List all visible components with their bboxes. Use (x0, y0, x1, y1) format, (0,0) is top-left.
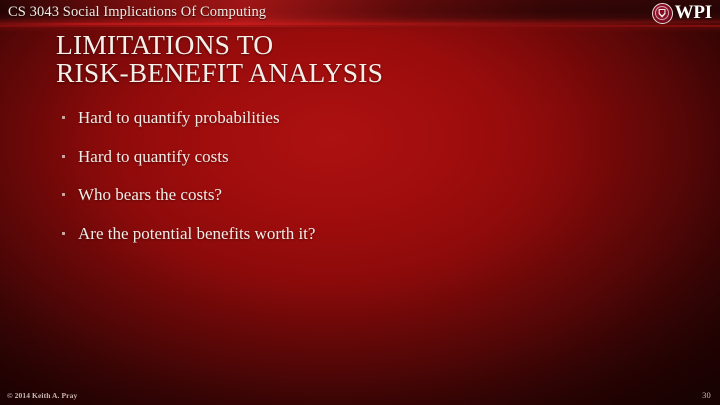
list-item: Are the potential benefits worth it? (58, 224, 658, 244)
bullet-dot-icon (62, 193, 65, 196)
slide-title-line-1: LIMITATIONS TO (56, 31, 676, 59)
header-divider-rule (0, 23, 720, 25)
list-item-label: Hard to quantify costs (78, 147, 229, 166)
list-item-label: Hard to quantify probabilities (78, 108, 280, 127)
course-title: CS 3043 Social Implications Of Computing (8, 1, 266, 23)
wpi-shield-icon (659, 9, 666, 18)
list-item-label: Who bears the costs? (78, 185, 222, 204)
wpi-seal-icon (652, 3, 673, 24)
list-item: Who bears the costs? (58, 185, 658, 205)
list-item-label: Are the potential benefits worth it? (78, 224, 315, 243)
slide-canvas: CS 3043 Social Implications Of Computing… (0, 0, 720, 405)
bullet-dot-icon (62, 116, 65, 119)
slide-page-number: 30 (702, 390, 711, 400)
list-item: Hard to quantify costs (58, 147, 658, 167)
bullet-dot-icon (62, 232, 65, 235)
list-item: Hard to quantify probabilities (58, 108, 658, 128)
bullet-dot-icon (62, 155, 65, 158)
bullet-list: Hard to quantify probabilities Hard to q… (58, 108, 658, 262)
footer-copyright: © 2014 Keith A. Pray (7, 391, 77, 400)
wpi-logo: WPI (652, 1, 712, 25)
slide-title-line-2: RISK-BENEFIT ANALYSIS (56, 59, 676, 87)
slide-title: LIMITATIONS TO RISK-BENEFIT ANALYSIS (56, 31, 676, 86)
wpi-wordmark: WPI (675, 3, 712, 23)
